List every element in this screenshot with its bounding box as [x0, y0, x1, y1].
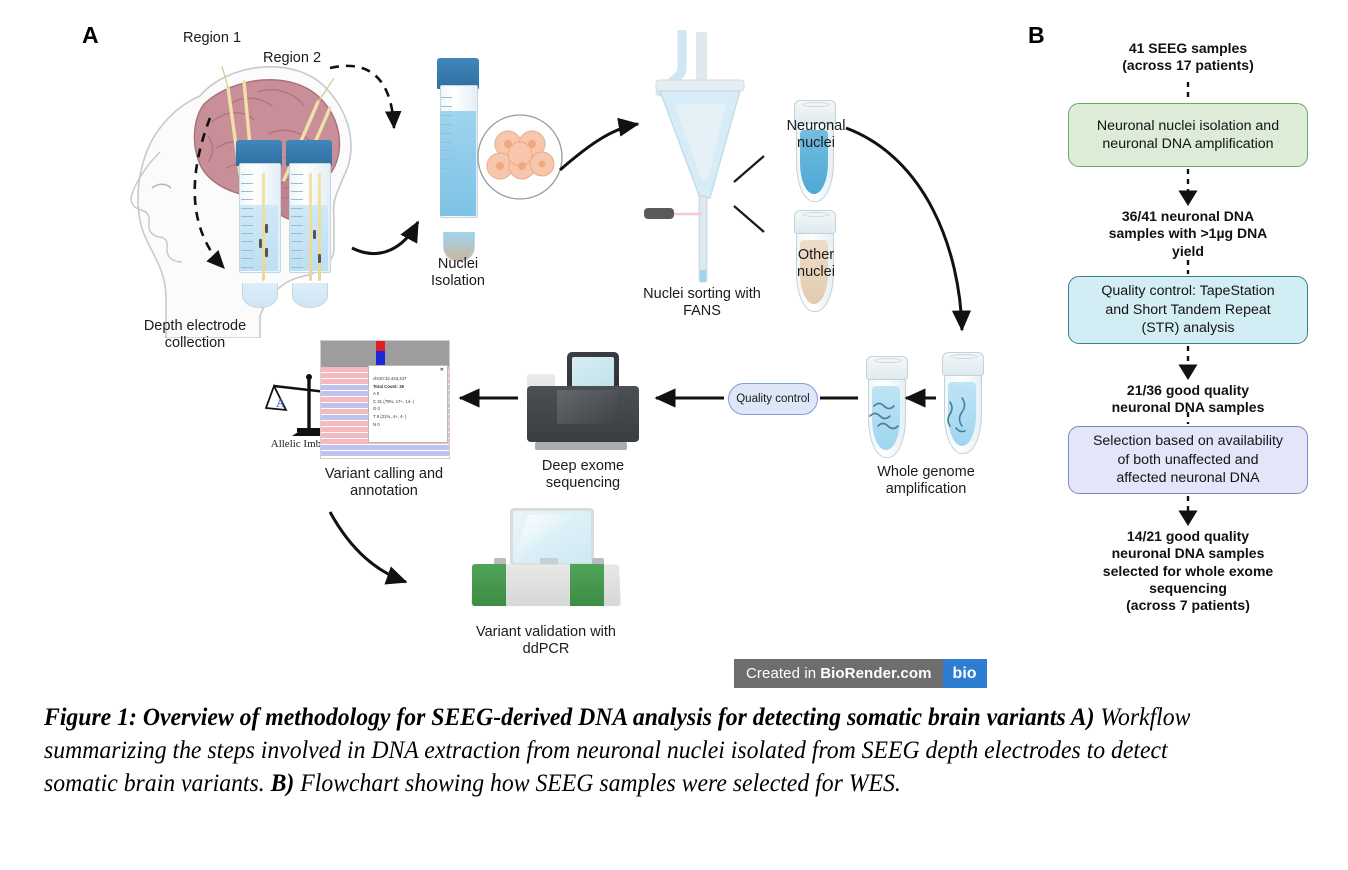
- region-2-label: Region 2: [232, 50, 352, 67]
- biorender-logo-icon: bio: [943, 659, 987, 688]
- caption-lead: Figure 1: Overview of methodology for SE…: [44, 702, 1071, 731]
- deep-exome-sequencer: [527, 352, 639, 450]
- figure-caption: Figure 1: Overview of methodology for SE…: [44, 700, 1218, 799]
- electrode-wire: [318, 173, 321, 281]
- nuclei-zoom-circle: [470, 112, 570, 212]
- falcon-tube-1: [236, 140, 282, 290]
- electrode-wire: [309, 173, 312, 281]
- quality-control-pill: Quality control: [728, 383, 818, 415]
- igv-locus: chr20:32,433,447: [369, 375, 447, 383]
- igv-snp-marker-red: [376, 341, 385, 351]
- other-nuclei-label: Other nuclei: [778, 247, 854, 281]
- region-1-label: Region 1: [152, 30, 272, 47]
- close-icon[interactable]: ✕: [440, 367, 444, 373]
- tube-tip: [292, 283, 327, 308]
- tube-lid: [866, 356, 908, 380]
- biorender-brand: BioRender.com: [820, 665, 931, 682]
- panel-b-letter: B: [1028, 22, 1045, 49]
- depth-electrode-collection-label: Depth electrode collection: [120, 318, 270, 352]
- figure-canvas: A: [0, 0, 1348, 870]
- biorender-badge: Created in BioRender.com bio: [734, 659, 987, 688]
- variant-calling-label: Variant calling and annotation: [294, 466, 474, 500]
- ddpcr-machine: [466, 508, 626, 614]
- electrode-contact: [265, 248, 268, 257]
- falcon-tube-2: [286, 140, 332, 290]
- tube-graduations: [441, 94, 452, 221]
- igv-base-row: C 31 (79%, 17+, 14- ): [369, 398, 447, 406]
- tube-cap: [286, 140, 332, 166]
- electrode-contact: [318, 254, 321, 263]
- caption-b-text: Flowchart showing how SEEG samples were …: [294, 768, 900, 797]
- flow-step-4-text: 14/21 good quality neuronal DNA samples …: [1058, 528, 1318, 615]
- caption-b-tag: B): [271, 768, 295, 797]
- igv-variant-screenshot: ✕ chr20:32,433,447 Total Count: 39 A 0 C…: [320, 340, 450, 459]
- neuronal-nuclei-label: Neuronal nuclei: [776, 118, 856, 152]
- sequencer-gloss: [557, 390, 617, 424]
- ddpcr-green-panel: [570, 564, 604, 606]
- caption-a-tag: A): [1071, 702, 1095, 731]
- tube-graduations: [241, 170, 253, 275]
- tube-graduations: [291, 170, 303, 275]
- biorender-text: Created in BioRender.com: [734, 659, 943, 688]
- nuclei-isolation-label: Nuclei Isolation: [398, 256, 518, 290]
- igv-base-row: T 8 (21%, 4+, 4- ): [369, 413, 447, 421]
- electrode-wire: [262, 173, 265, 281]
- flow-box-quality-control: Quality control: TapeStation and Short T…: [1068, 276, 1308, 344]
- flow-box-neuronal-isolation: Neuronal nuclei isolation and neuronal D…: [1068, 103, 1308, 167]
- fans-sorter-illustration: [630, 30, 770, 290]
- flow-step-2-text: 36/41 neuronal DNA samples with >1µg DNA…: [1058, 208, 1318, 260]
- sequencer-foot: [535, 442, 627, 450]
- flow-step-1-text: 41 SEEG samples (across 17 patients): [1068, 40, 1308, 75]
- tube-tip: [242, 283, 277, 308]
- electrode-contact: [259, 239, 262, 248]
- ddpcr-green-panel: [472, 564, 506, 606]
- igv-base-row: N 0: [369, 421, 447, 429]
- igv-total-count: Total Count: 39: [369, 383, 447, 391]
- electrode-contact: [313, 230, 316, 239]
- igv-coverage-track: [321, 341, 449, 367]
- ddpcr-label: Variant validation with ddPCR: [456, 624, 636, 658]
- wga-label: Whole genome amplification: [846, 464, 1006, 498]
- tube-cap: [236, 140, 282, 166]
- tube-lid: [942, 352, 984, 376]
- igv-popup: ✕ chr20:32,433,447 Total Count: 39 A 0 C…: [368, 365, 448, 443]
- igv-base-row: G 0: [369, 405, 447, 413]
- flow-box-selection: Selection based on availability of both …: [1068, 426, 1308, 494]
- electrode-contact: [265, 224, 268, 233]
- tube-lid: [794, 210, 836, 234]
- igv-base-row: A 0: [369, 390, 447, 398]
- scale-allele-a: A: [276, 395, 285, 411]
- dna-squiggles: [862, 380, 990, 450]
- deep-exome-sequencing-label: Deep exome sequencing: [513, 458, 653, 492]
- fans-label: Nuclei sorting with FANS: [612, 286, 792, 320]
- flow-step-3-text: 21/36 good quality neuronal DNA samples: [1062, 382, 1314, 417]
- biorender-prefix: Created in: [746, 665, 816, 682]
- tube-cap: [437, 58, 479, 89]
- panel-a-letter: A: [82, 22, 99, 49]
